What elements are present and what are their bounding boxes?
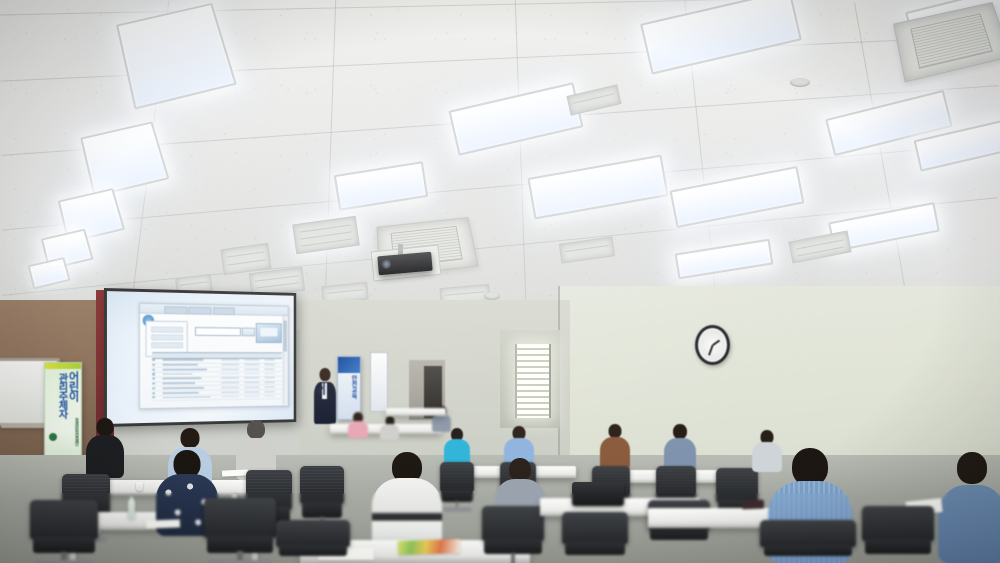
ceiling [0,0,1000,330]
water-bottle [128,500,135,519]
mesh-office-chair [862,506,934,563]
presenter-necktie [323,383,325,395]
smoke-detector [790,78,810,87]
secondary-banner: 안전교육 [337,356,361,420]
banner-emblem-icon [49,433,57,441]
podium-table [386,408,446,416]
paper-cup [136,482,143,491]
projected-thumbnail-image [256,323,282,343]
seated-attendee [444,428,470,466]
smoke-detector [484,292,500,300]
mesh-office-chair [300,466,344,528]
colored-brochure [398,539,460,555]
seated-attendee [86,418,124,478]
seminar-room-photo: 어린이 관리주체자 한국어린이안전재단 안전교육 [0,0,1000,563]
banner-line-2: 관리주체자 [56,373,66,418]
banner-footer: 한국어린이안전재단 [75,418,79,445]
projected-tab [213,307,235,315]
mesh-office-chair [276,520,350,563]
secondary-banner-text: 안전교육 [349,375,358,399]
mesh-office-chair [482,506,544,563]
presenter [314,368,336,424]
standing-banner: 어린이 관리주체자 한국어린이안전재단 [44,362,82,462]
seated-attendee [600,424,630,470]
seated-attendee [664,424,696,472]
seated-attendee [752,430,782,472]
projection-screen [104,288,296,427]
projected-tab [164,306,187,314]
mobile-phone [742,500,764,510]
projected-search-input [195,327,241,336]
mesh-office-chair [204,498,276,563]
mesh-office-chair [760,520,856,563]
black-bag [572,482,624,506]
window-with-blinds [515,344,551,418]
seated-attendee [348,412,368,438]
mesh-office-chair [30,500,98,563]
presenter-head [320,368,331,381]
projected-search-button [242,328,255,337]
mesh-office-chair [440,462,474,510]
seated-attendee [938,452,1000,563]
projected-scrollbar [282,316,286,405]
projected-tab [189,306,212,314]
projected-table-row [152,394,282,401]
window-blinds[interactable] [517,344,549,418]
seated-attendee [372,452,442,548]
projector-lens [382,259,392,269]
wall-clock [695,325,730,365]
mesh-office-chair [562,512,628,563]
handout-paper [146,519,180,528]
banner-top-bar [45,363,81,369]
banner-stand [370,352,388,412]
seated-attendee [380,416,399,440]
ac-grille [910,13,994,69]
projection-screen-surface [107,291,294,424]
projected-application-window [139,302,289,409]
banner-line-1: 어린이 [68,371,79,401]
secondary-banner-header [338,357,360,373]
